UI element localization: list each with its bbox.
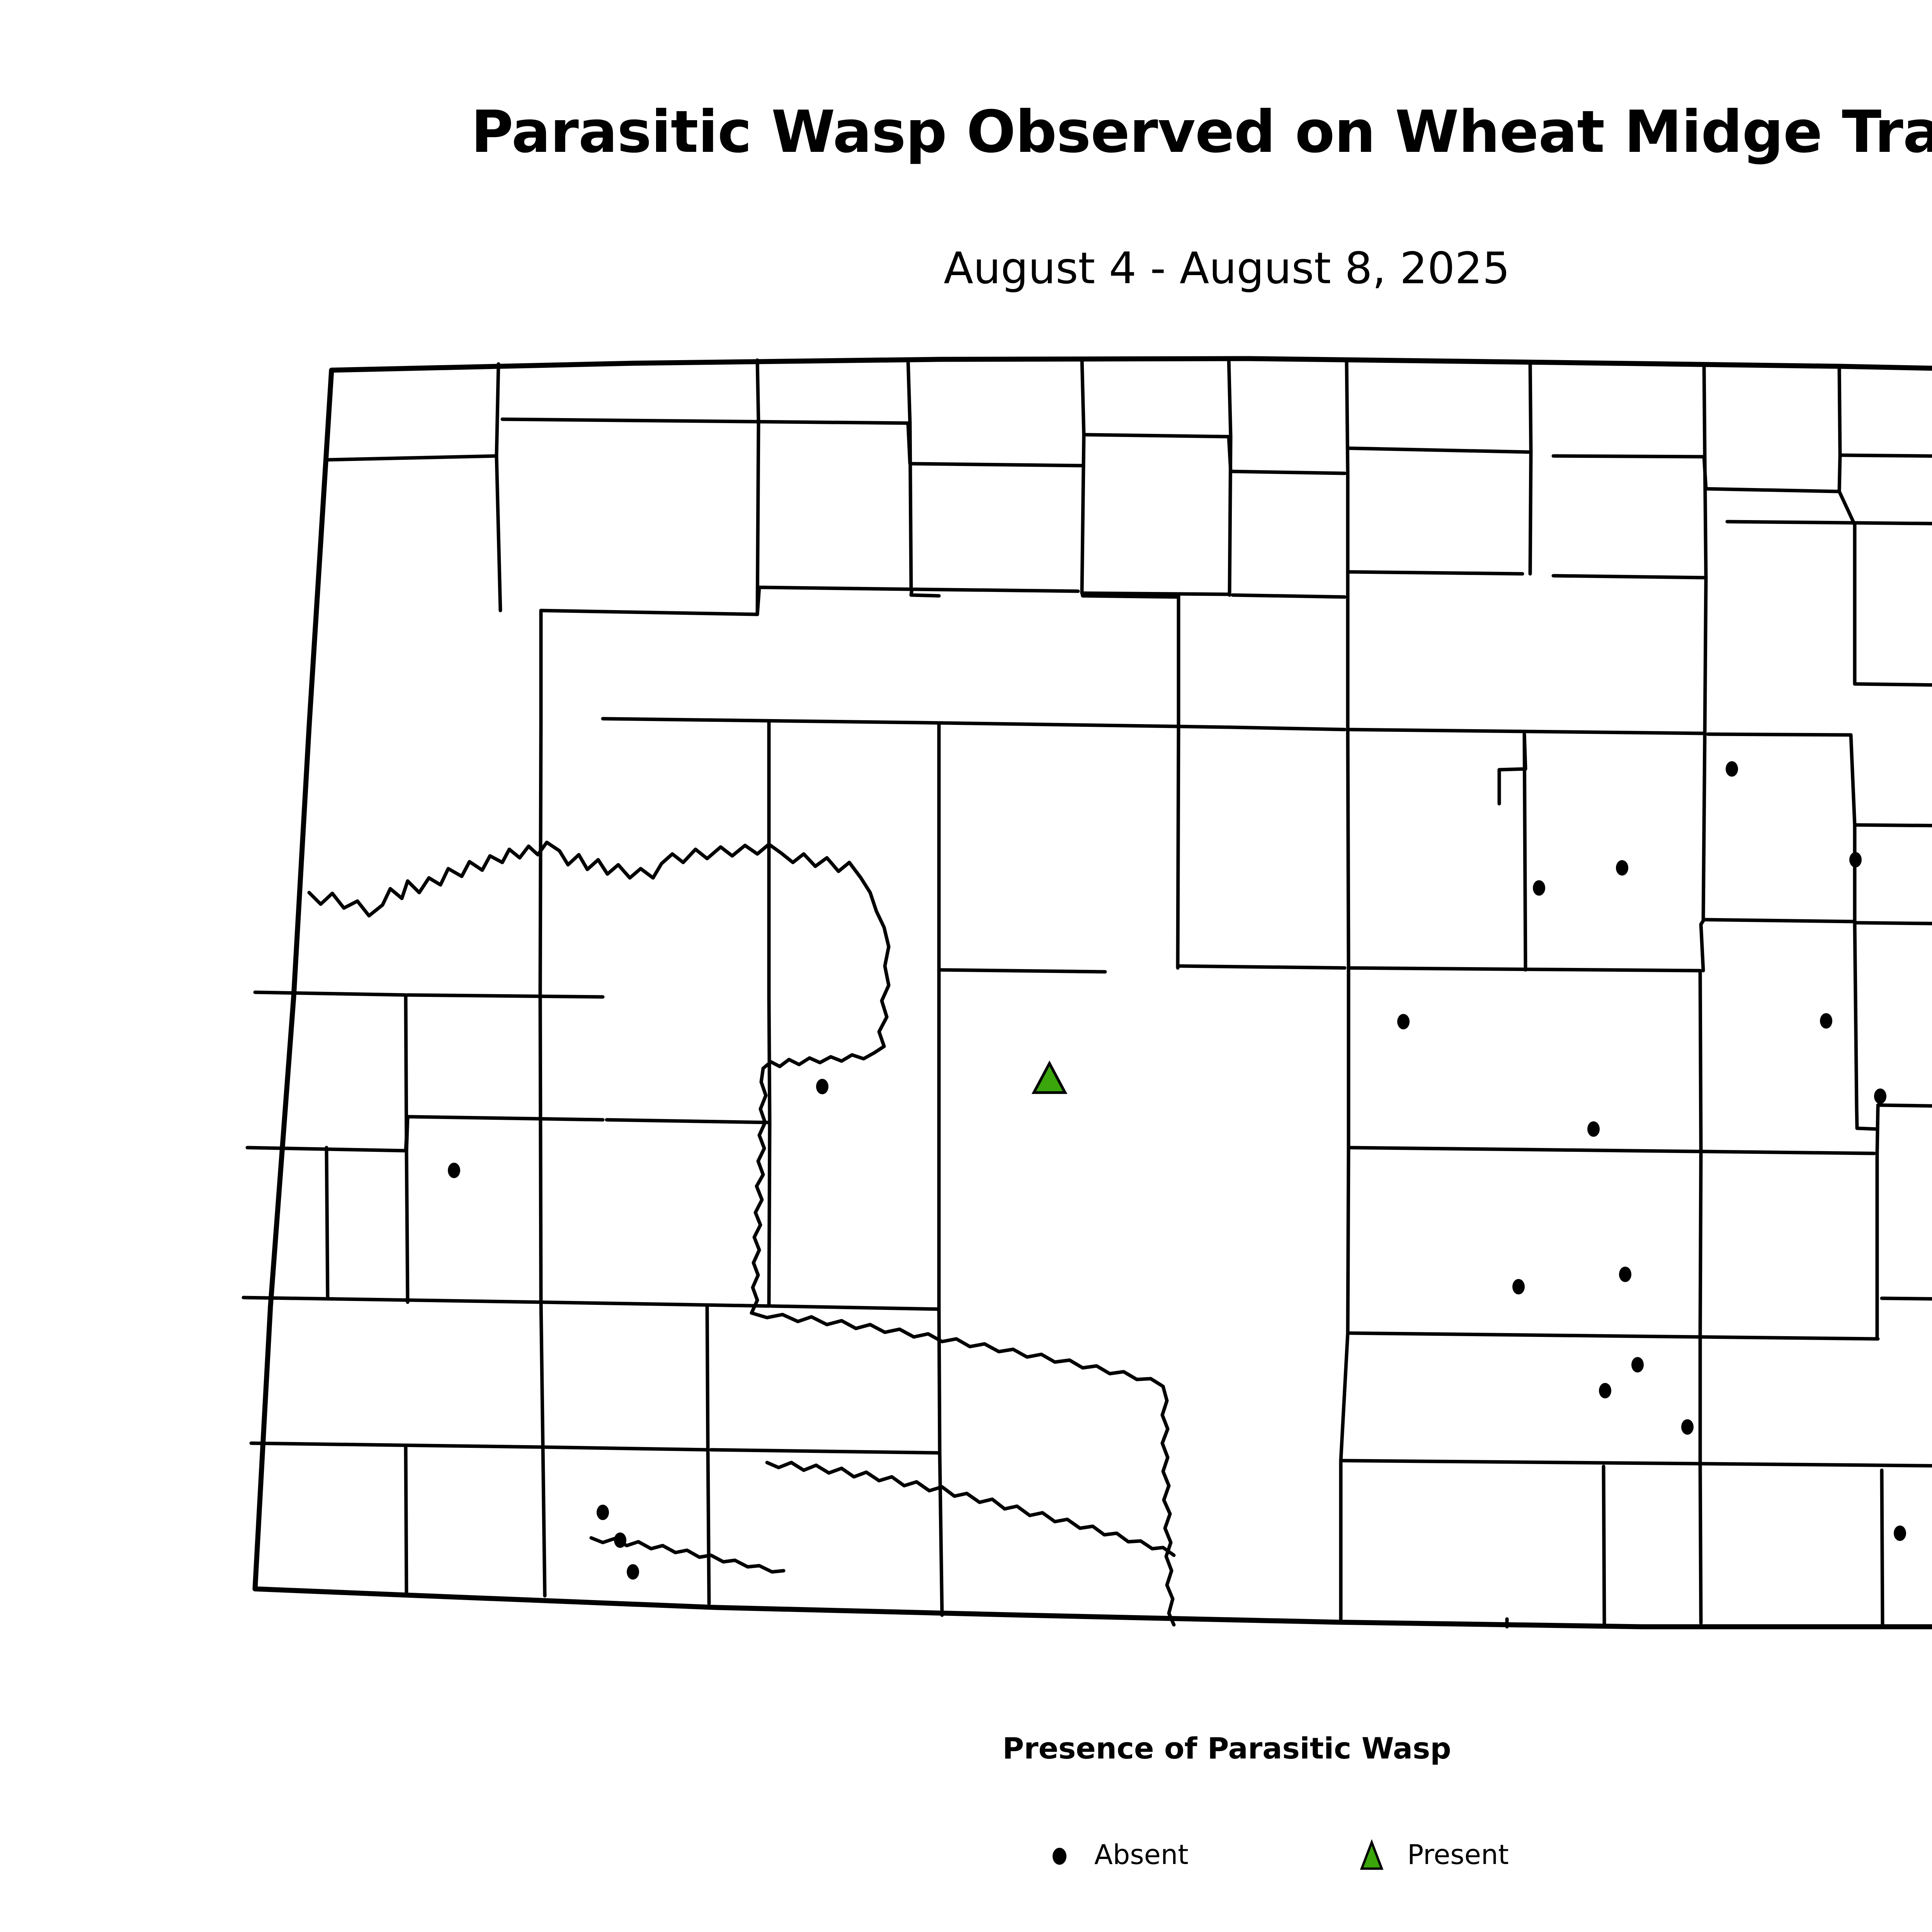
tier-line-7c <box>1349 1333 1700 1337</box>
map-marker-absent[interactable] <box>614 1532 626 1548</box>
col-line-5 <box>1229 359 1231 595</box>
map-marker-absent[interactable] <box>1849 852 1862 867</box>
cannonball-river <box>767 1463 1174 1555</box>
tier-line-2 <box>1349 572 1522 574</box>
col-line-8 <box>1703 364 1706 920</box>
col-line-12 <box>1882 1470 1883 1625</box>
jog-line-e <box>1857 1107 1877 1129</box>
map-marker-absent[interactable] <box>448 1163 460 1178</box>
tier-line-8 <box>243 1298 769 1306</box>
map-marker-present[interactable] <box>1034 1063 1065 1093</box>
map-marker-absent[interactable] <box>1820 1013 1832 1029</box>
col-line-17 <box>707 1306 709 1604</box>
tier-line-6c <box>1349 1148 1700 1151</box>
legend-title: Presence of Parasitic Wasp <box>0 1731 1932 1765</box>
col-line-1 <box>497 364 500 611</box>
col-line-7 <box>1530 362 1531 574</box>
tier-line-3b <box>914 589 1078 591</box>
tier-line-5f <box>1855 923 1932 924</box>
tier-line-4c <box>1708 734 1851 735</box>
legend-entry-present[interactable]: Present <box>1352 1832 1509 1878</box>
col-line-4 <box>1082 359 1084 593</box>
tier-line-6e <box>1878 1105 1932 1107</box>
tier-line-4b <box>1349 730 1704 733</box>
missouri-river-knifeheart <box>752 1313 1163 1386</box>
map-marker-absent[interactable] <box>597 1505 609 1520</box>
map-marker-absent[interactable] <box>1894 1526 1906 1541</box>
tier-line-1e <box>1553 456 1839 492</box>
map-marker-absent[interactable] <box>627 1564 639 1580</box>
col-line-2 <box>757 360 759 614</box>
tier-line-2b <box>1553 576 1706 578</box>
tier-line-1c <box>1086 435 1345 473</box>
tier-line-7d <box>1702 1337 1878 1339</box>
tier-line-1 <box>327 456 497 460</box>
col-line-18 <box>406 1447 406 1596</box>
map-marker-absent[interactable] <box>1631 1357 1644 1372</box>
tier-line-1f <box>1841 455 1932 458</box>
map-marker-absent[interactable] <box>1512 1279 1525 1294</box>
map-marker-absent[interactable] <box>1726 761 1738 777</box>
tier-line-1d <box>1349 448 1530 452</box>
tier-line-8d <box>1702 1464 1932 1466</box>
page-title: Parasitic Wasp Observed on Wheat Midge T… <box>0 99 1932 166</box>
col-line-16 <box>327 1148 328 1298</box>
tier-line-4 <box>603 719 1345 730</box>
col-line-6 <box>1341 360 1349 1619</box>
tier-line-9b <box>711 1450 939 1453</box>
tier-line-9 <box>251 1443 707 1450</box>
col-line-3b <box>939 724 942 1615</box>
map-marker-absent[interactable] <box>1599 1383 1611 1398</box>
tier-line-1b <box>502 419 1082 466</box>
tier-line-7e <box>1882 1298 1932 1301</box>
north-dakota-county-map <box>0 340 1932 1673</box>
map-marker-absent[interactable] <box>1587 1121 1600 1137</box>
jog-line-c <box>1499 734 1526 804</box>
legend-label-absent: Absent <box>1094 1839 1189 1871</box>
col-line-9c <box>1877 1107 1878 1339</box>
col-line-5b <box>1178 595 1179 968</box>
tier-line-6 <box>255 992 406 995</box>
tier-line-5d <box>1704 920 1855 922</box>
tier-line-7 <box>247 1117 603 1151</box>
state-outline <box>255 359 1932 1627</box>
map-marker-absent[interactable] <box>1681 1419 1694 1435</box>
map-marker-absent[interactable] <box>1533 880 1545 896</box>
map-marker-absent[interactable] <box>1616 860 1628 876</box>
legend-entry-absent[interactable]: Absent <box>1039 1832 1189 1878</box>
tier-line-4d <box>1855 684 1932 740</box>
map-marker-absent[interactable] <box>1874 1088 1886 1104</box>
county-boundaries <box>243 359 1932 1627</box>
tier-line-5e <box>1857 825 1932 829</box>
present-triangle-icon <box>1352 1835 1391 1874</box>
tier-line-8c <box>1341 1461 1700 1464</box>
trap-markers <box>448 761 1932 1673</box>
legend-label-present: Present <box>1407 1839 1509 1871</box>
jog-line-f <box>406 1117 408 1151</box>
map-page: Parasitic Wasp Observed on Wheat Midge T… <box>0 0 1932 1932</box>
missouri-river-lower <box>1162 1386 1174 1625</box>
tier-line-8b <box>771 1306 939 1309</box>
col-line-8b <box>1700 971 1701 1623</box>
map-marker-absent[interactable] <box>1619 1267 1631 1282</box>
jog-line-d <box>1701 920 1704 971</box>
map-container <box>0 340 1932 1673</box>
tier-line-5b <box>1179 966 1345 968</box>
tier-line-6b <box>408 995 603 997</box>
legend: Absent Present <box>1039 1832 1619 1886</box>
tier-line-7b <box>607 1120 769 1122</box>
tier-line-3d <box>1233 595 1345 597</box>
absent-dot-icon <box>1039 1835 1078 1874</box>
tier-line-3 <box>541 587 912 614</box>
tier-line-6d <box>1702 1151 1874 1153</box>
tier-line-5 <box>939 970 1105 972</box>
tier-line-2c <box>1727 522 1932 524</box>
lake-sakakawea-shore <box>309 842 889 1046</box>
col-line-2b <box>769 723 770 1306</box>
map-marker-absent[interactable] <box>816 1079 828 1094</box>
missouri-river-mid <box>752 1068 766 1313</box>
missouri-river-upper <box>763 1046 884 1068</box>
col-line-9 <box>1839 366 1855 684</box>
page-subtitle: August 4 - August 8, 2025 <box>0 243 1932 294</box>
tier-line-3c <box>1082 593 1229 594</box>
map-marker-absent[interactable] <box>1397 1014 1410 1029</box>
col-line-13 <box>1604 1466 1604 1624</box>
col-line-3 <box>908 359 911 589</box>
